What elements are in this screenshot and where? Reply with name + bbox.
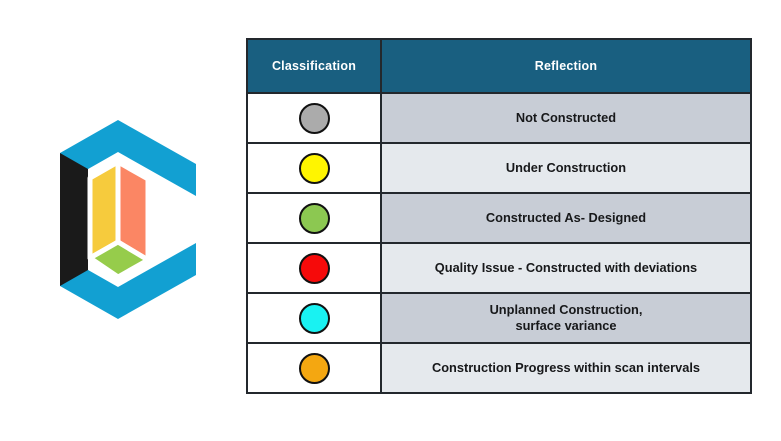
table-row: Unplanned Construction, surface variance — [247, 293, 751, 343]
grey-status-dot — [299, 103, 330, 134]
classification-cell — [247, 143, 381, 193]
logo-left-side-panel — [60, 153, 88, 286]
orange-status-dot — [299, 353, 330, 384]
classification-cell — [247, 243, 381, 293]
table-body: Not ConstructedUnder ConstructionConstru… — [247, 93, 751, 393]
classification-cell — [247, 293, 381, 343]
company-logo — [38, 112, 198, 327]
table-row: Under Construction — [247, 143, 751, 193]
cyan-status-dot — [299, 303, 330, 334]
classification-cell — [247, 193, 381, 243]
green-status-dot — [299, 203, 330, 234]
red-status-dot — [299, 253, 330, 284]
table-row: Quality Issue - Constructed with deviati… — [247, 243, 751, 293]
reflection-cell: Constructed As- Designed — [381, 193, 751, 243]
yellow-status-dot — [299, 153, 330, 184]
table-row: Construction Progress within scan interv… — [247, 343, 751, 393]
column-header-reflection: Reflection — [381, 39, 751, 93]
column-header-classification: Classification — [247, 39, 381, 93]
table-header: Classification Reflection — [247, 39, 751, 93]
table-row: Not Constructed — [247, 93, 751, 143]
reflection-cell: Under Construction — [381, 143, 751, 193]
classification-cell — [247, 343, 381, 393]
classification-cell — [247, 93, 381, 143]
reflection-cell: Construction Progress within scan interv… — [381, 343, 751, 393]
reflection-cell: Not Constructed — [381, 93, 751, 143]
reflection-cell: Unplanned Construction, surface variance — [381, 293, 751, 343]
reflection-cell: Quality Issue - Constructed with deviati… — [381, 243, 751, 293]
table-row: Constructed As- Designed — [247, 193, 751, 243]
table-header-row: Classification Reflection — [247, 39, 751, 93]
classification-legend-table: Classification Reflection Not Constructe… — [246, 38, 752, 394]
